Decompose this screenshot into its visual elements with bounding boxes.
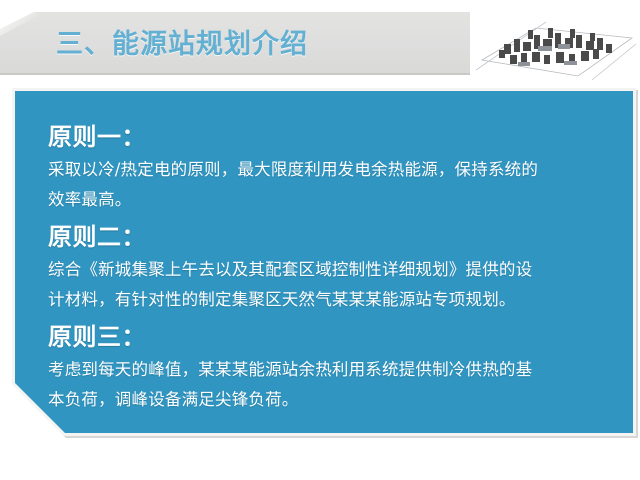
header-underline (0, 73, 470, 75)
principle-body: 考虑到每天的峰值，某某某能源站余热利用系统提供制冷供热的基 本负荷，调峰设备满足… (48, 355, 603, 415)
principle-body-line: 本负荷，调峰设备满足尖锋负荷。 (48, 385, 603, 415)
isometric-city-sketch-icon (474, 8, 640, 84)
principle-heading: 原则三： (48, 319, 603, 355)
page-title: 三、能源站规划介绍 (56, 25, 308, 65)
principle-body-line: 计材料，有针对性的制定集聚区天然气某某某能源站专项规划。 (48, 285, 603, 315)
principle-body: 采取以冷/热定电的原则，最大限度利用发电余热能源，保持系统的 效率最高。 (48, 155, 603, 215)
content-panel-body: 原则一： 采取以冷/热定电的原则，最大限度利用发电余热能源，保持系统的 效率最高… (15, 91, 633, 433)
principle-body-line: 考虑到每天的峰值，某某某能源站余热利用系统提供制冷供热的基 (48, 355, 603, 385)
content-panel: 原则一： 采取以冷/热定电的原则，最大限度利用发电余热能源，保持系统的 效率最高… (15, 91, 633, 433)
principle-item: 原则三： 考虑到每天的峰值，某某某能源站余热利用系统提供制冷供热的基 本负荷，调… (48, 319, 603, 415)
principle-body-line: 效率最高。 (48, 185, 603, 215)
principle-body-line: 综合《新城集聚上午去以及其配套区域控制性详细规划》提供的设 (48, 255, 603, 285)
principle-heading: 原则一： (48, 119, 603, 155)
principle-item: 原则二： 综合《新城集聚上午去以及其配套区域控制性详细规划》提供的设 计材料，有… (48, 219, 603, 315)
principle-body: 综合《新城集聚上午去以及其配套区域控制性详细规划》提供的设 计材料，有针对性的制… (48, 255, 603, 315)
principle-heading: 原则二： (48, 219, 603, 255)
presentation-slide: 三、能源站规划介绍 (0, 0, 640, 480)
principle-body-line: 采取以冷/热定电的原则，最大限度利用发电余热能源，保持系统的 (48, 155, 603, 185)
slide-header-band: 三、能源站规划介绍 (0, 12, 470, 74)
principle-item: 原则一： 采取以冷/热定电的原则，最大限度利用发电余热能源，保持系统的 效率最高… (48, 119, 603, 215)
